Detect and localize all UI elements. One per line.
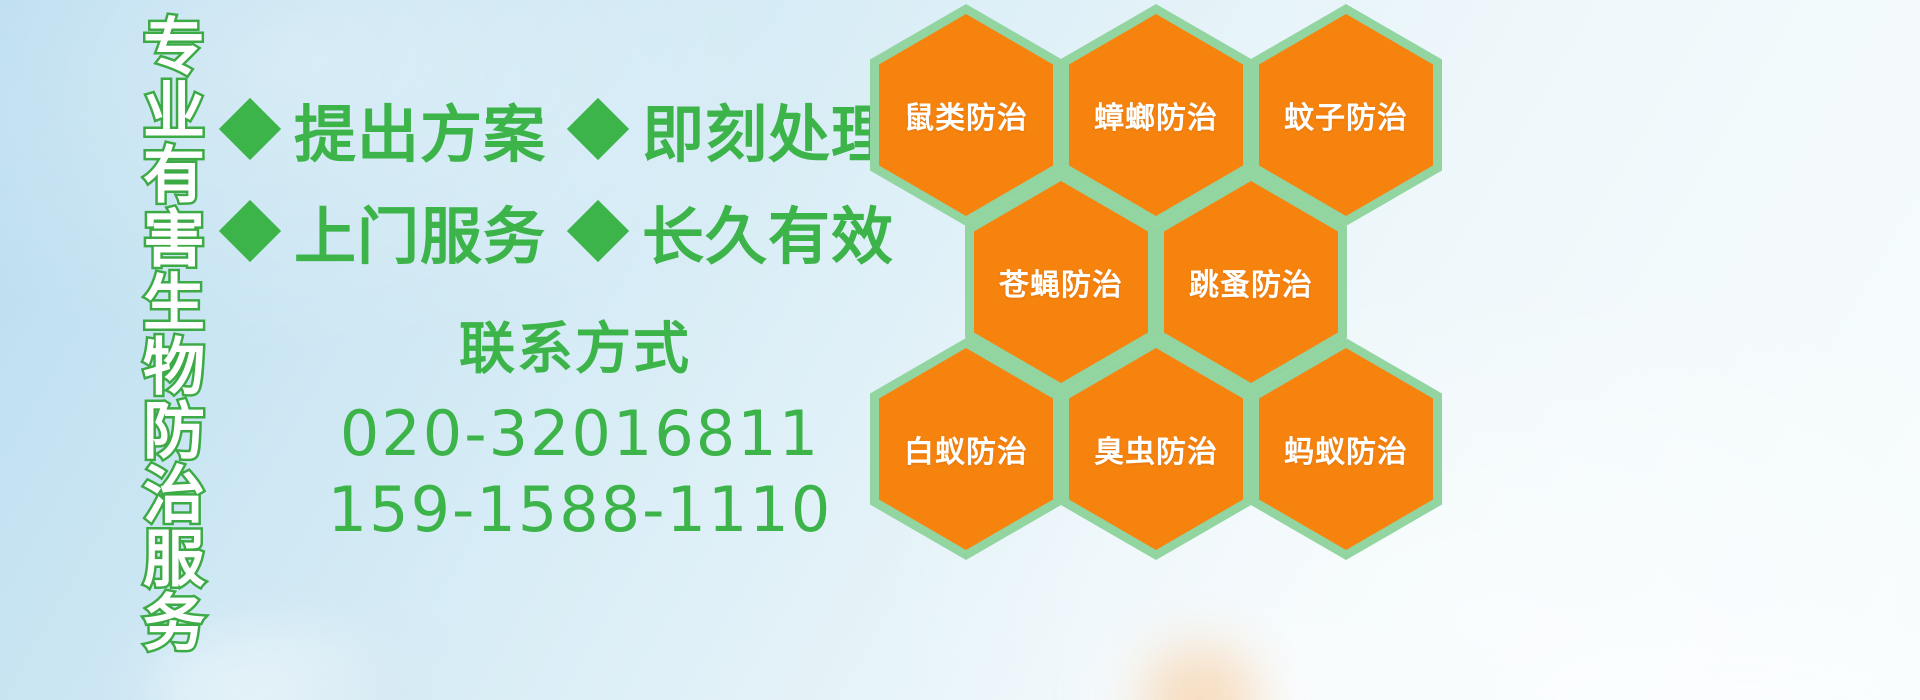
diamond-icon <box>567 200 629 262</box>
background-blob <box>1140 645 1260 700</box>
slogan-list: 提出方案 即刻处理 上门服务 长久有效 <box>228 78 868 282</box>
slogan-row: 提出方案 即刻处理 <box>228 78 868 180</box>
slogan-label: 提出方案 <box>294 84 546 174</box>
hex-label: 跳蚤防治 <box>1189 260 1313 304</box>
contact-title: 联系方式 <box>290 318 860 382</box>
diamond-icon <box>567 98 629 160</box>
hex-label: 蚊子防治 <box>1284 93 1408 137</box>
diamond-icon <box>219 200 281 262</box>
promo-banner: 专业有害生物防治服务 提出方案 即刻处理 上门服务 长久有效 联系方式 020-… <box>0 0 1920 700</box>
slogan-label: 长久有效 <box>642 186 894 276</box>
slogan-label: 即刻处理 <box>642 84 894 174</box>
phone-number-landline[interactable]: 020-32016811 <box>300 396 860 472</box>
hex-label: 鼠类防治 <box>904 93 1028 137</box>
background-blob <box>1080 630 1380 700</box>
hex-label: 臭虫防治 <box>1094 427 1218 471</box>
service-honeycomb: 鼠类防治 蟑螂防治 蚊子防治 苍蝇防治 跳蚤防治 白蚁防治 臭虫防治 蚂蚁防治 <box>862 0 1462 548</box>
hex-label: 白蚁防治 <box>904 427 1028 471</box>
phone-number-mobile[interactable]: 159-1588-1110 <box>300 472 860 548</box>
contact-block: 联系方式 020-32016811 159-1588-1110 <box>300 318 860 548</box>
hex-label: 蟑螂防治 <box>1094 93 1218 137</box>
hex-label: 蚂蚁防治 <box>1284 427 1408 471</box>
slogan-label: 上门服务 <box>294 186 546 276</box>
vertical-title: 专业有害生物防治服务 <box>108 14 200 654</box>
hex-label: 苍蝇防治 <box>999 260 1123 304</box>
slogan-row: 上门服务 长久有效 <box>228 180 868 282</box>
background-blob <box>1500 620 1920 700</box>
diamond-icon <box>219 98 281 160</box>
background-blob <box>300 650 420 700</box>
